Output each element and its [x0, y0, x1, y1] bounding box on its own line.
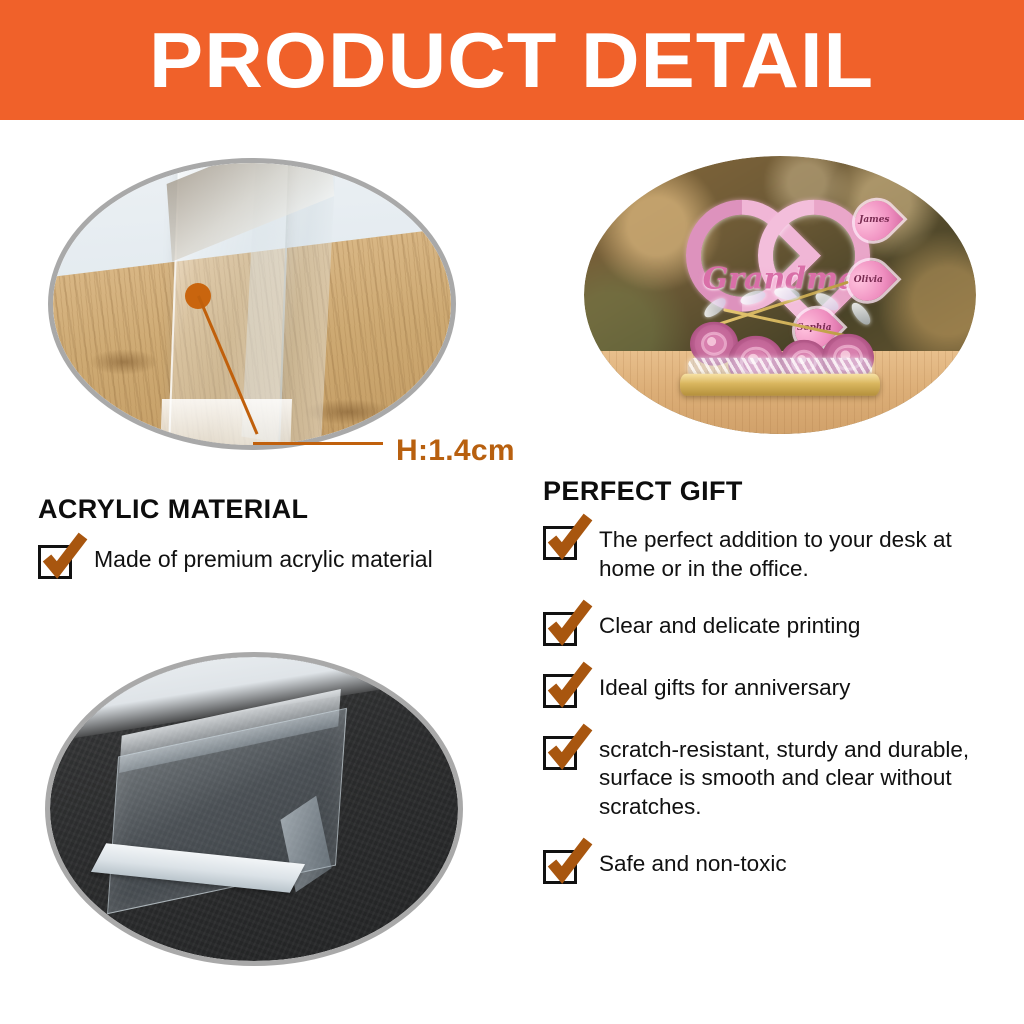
- feature-item: The perfect addition to your desk at hom…: [543, 524, 1013, 584]
- section-heading-acrylic-material: ACRYLIC MATERIAL: [38, 494, 308, 525]
- photo-content: Grandma James Olivia Sophia: [584, 156, 976, 434]
- checkbox-checked-icon: [543, 612, 577, 646]
- feature-text: Clear and delicate printing: [599, 610, 860, 641]
- feature-text: scratch-resistant, sturdy and durable, s…: [599, 734, 1013, 822]
- feature-item: Ideal gifts for anniversary: [543, 672, 1013, 708]
- acrylic-edge-on-wood-photo: [48, 158, 456, 450]
- section-heading-perfect-gift: PERFECT GIFT: [543, 476, 743, 507]
- feature-text: Ideal gifts for anniversary: [599, 672, 850, 703]
- acrylic-block-base-highlight: [160, 399, 292, 445]
- thickness-callout-label: H:1.4cm: [396, 434, 515, 468]
- wood-grain-knot: [89, 349, 159, 375]
- checkbox-checked-icon: [543, 850, 577, 884]
- heart-ornament-photo: Grandma James Olivia Sophia: [584, 156, 976, 434]
- gold-base-plate: [680, 374, 880, 396]
- feature-item: Made of premium acrylic material: [38, 543, 528, 579]
- checkbox-checked-icon: [543, 674, 577, 708]
- name-heart-label: Olivia: [847, 275, 889, 285]
- feature-list-acrylic-material: Made of premium acrylic material: [38, 543, 528, 601]
- feature-list-perfect-gift: The perfect addition to your desk at hom…: [543, 524, 1013, 910]
- callout-leader-line-horizontal: [253, 442, 383, 445]
- heart-ornament-object: Grandma James Olivia Sophia: [662, 184, 898, 398]
- checkbox-checked-icon: [543, 526, 577, 560]
- checkbox-checked-icon: [543, 736, 577, 770]
- checkbox-checked-icon: [38, 545, 72, 579]
- feature-item: Clear and delicate printing: [543, 610, 1013, 646]
- feature-text: Made of premium acrylic material: [94, 543, 433, 574]
- acrylic-block-on-slate-photo: [45, 652, 463, 966]
- name-heart-label: James: [853, 215, 895, 225]
- page-title: PRODUCT DETAIL: [149, 21, 874, 99]
- feature-text: The perfect addition to your desk at hom…: [599, 524, 1013, 584]
- feature-item: Safe and non-toxic: [543, 848, 1013, 884]
- photo-content: [53, 163, 451, 445]
- feature-text: Safe and non-toxic: [599, 848, 787, 879]
- photo-content: [50, 657, 458, 961]
- header-banner: PRODUCT DETAIL: [0, 0, 1024, 120]
- feature-item: scratch-resistant, sturdy and durable, s…: [543, 734, 1013, 822]
